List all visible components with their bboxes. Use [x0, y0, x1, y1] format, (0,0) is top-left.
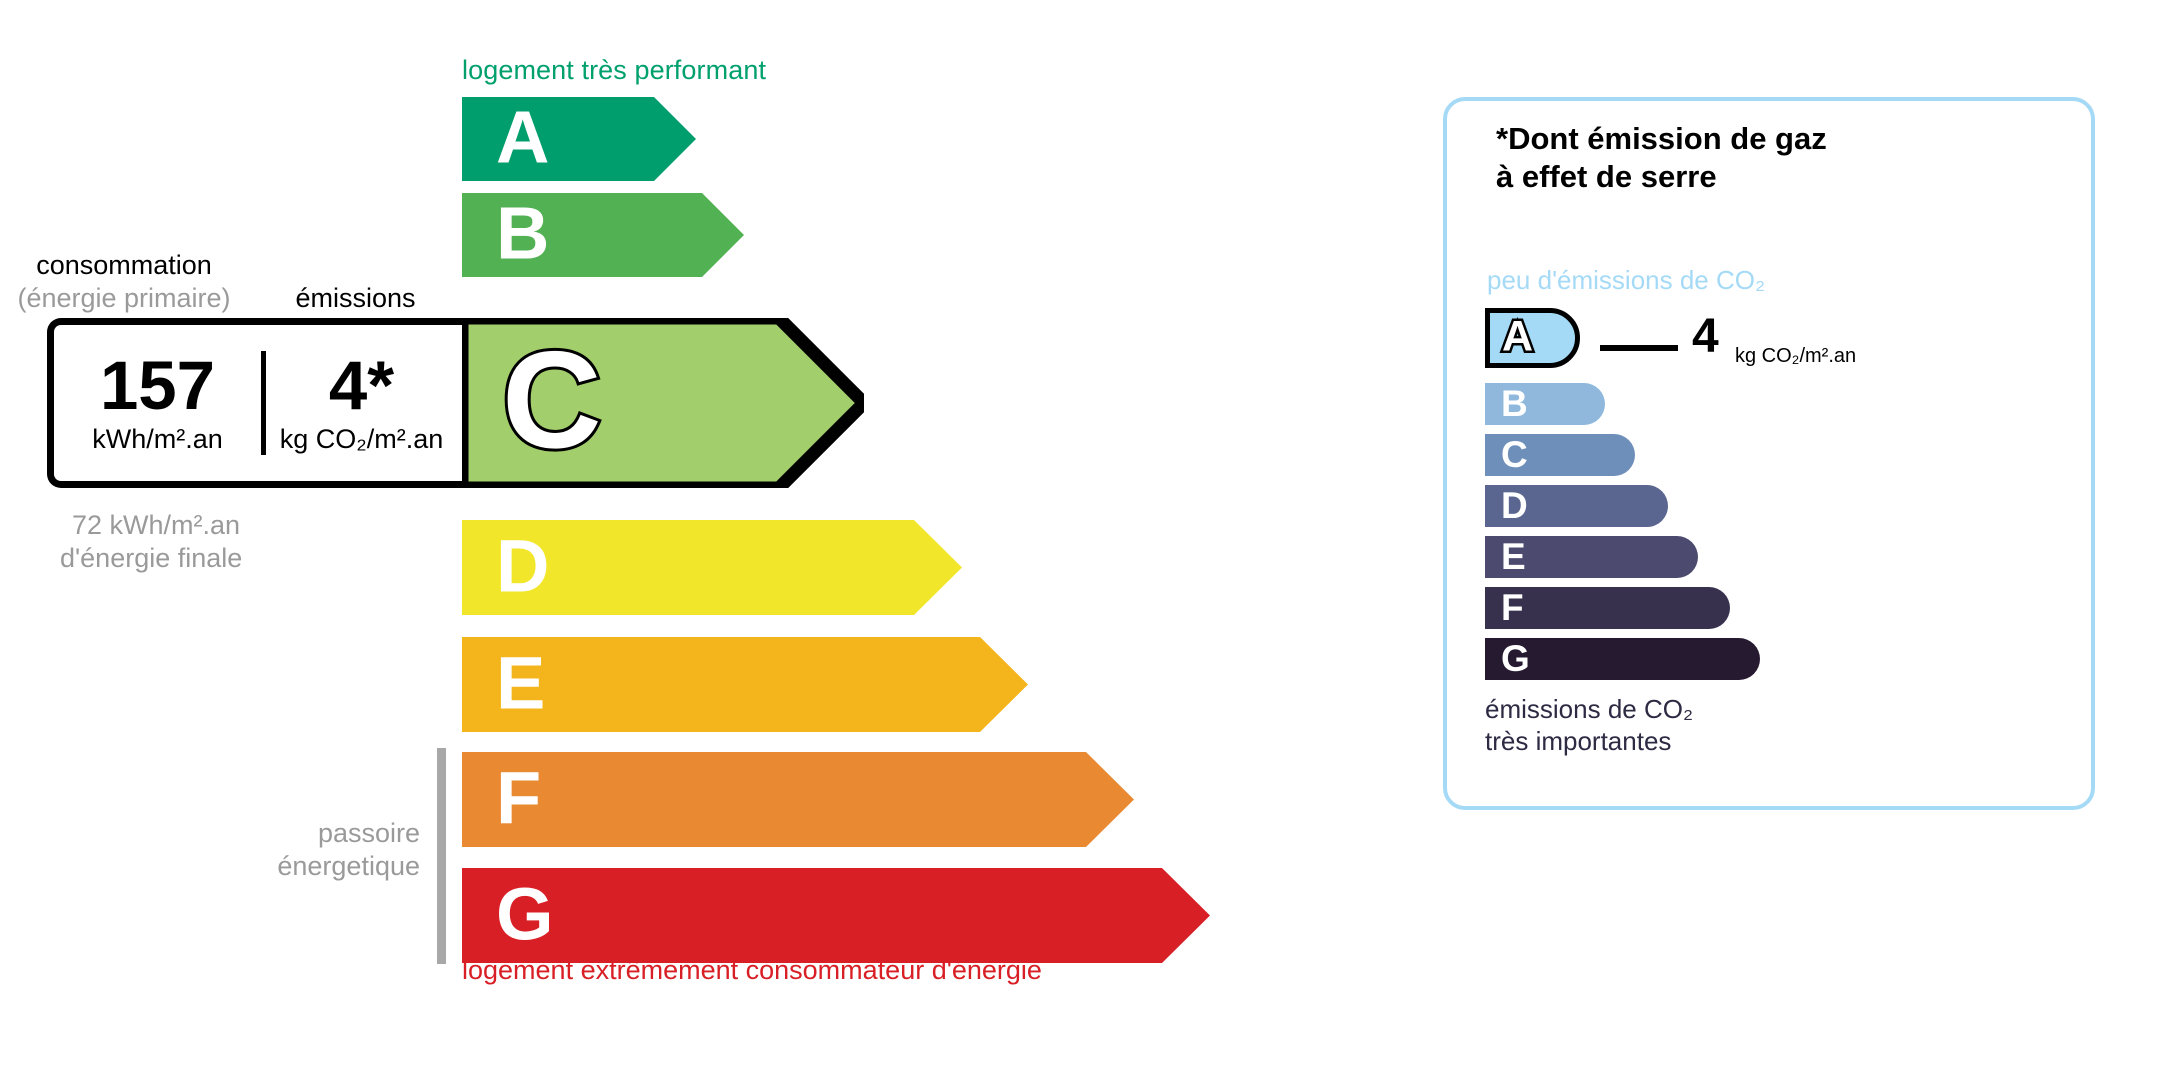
ges-caption-bottom: émissions de CO₂ très importantes — [1485, 694, 1693, 757]
energy-band-a-letter: A — [496, 101, 549, 175]
primary-energy-unit: kWh/m².an — [92, 424, 223, 455]
energy-band-f[interactable]: F — [462, 752, 1134, 847]
consumption-callout-box: 157 kWh/m².an 4* kg CO₂/m².an — [47, 318, 462, 488]
energy-band-d[interactable]: D — [462, 520, 962, 615]
label-emissions: émissions — [253, 283, 458, 314]
ges-bar-d[interactable]: D — [1485, 485, 1668, 527]
ges-bar-c-letter: C — [1501, 436, 1528, 473]
energy-band-e[interactable]: E — [462, 637, 1028, 732]
energy-band-e-letter: E — [496, 646, 545, 720]
energy-band-c-selected[interactable]: C — [462, 318, 864, 488]
ges-leader-line — [1600, 345, 1678, 351]
energy-band-a[interactable]: A — [462, 97, 696, 181]
energy-band-e-arrow — [462, 637, 1028, 732]
label-consommation: consommation — [0, 250, 248, 281]
ges-value: 4 — [1692, 313, 1719, 361]
primary-energy-value: 157 — [100, 351, 215, 420]
energy-band-c-letter: C — [502, 331, 602, 469]
ges-bar-d-letter: D — [1501, 487, 1528, 524]
ges-bar-a-selected[interactable]: A — [1485, 308, 1580, 368]
ges-bar-g[interactable]: G — [1485, 638, 1760, 680]
ges-bar-f-letter: F — [1501, 589, 1524, 626]
ges-panel-title: *Dont émission de gaz à effet de serre — [1496, 120, 1827, 196]
emissions-value: 4* — [329, 351, 394, 420]
energy-caption-bottom: logement extrêmement consommateur d'éner… — [462, 955, 1042, 986]
dpe-energy-label: logement très performant A B C D E — [0, 0, 2169, 1079]
energy-band-f-arrow — [462, 752, 1134, 847]
emissions-unit: kg CO₂/m².an — [280, 424, 444, 455]
energy-band-g-arrow — [462, 868, 1210, 963]
energy-band-f-letter: F — [496, 761, 541, 835]
passoire-label-line1: passoire — [150, 818, 420, 849]
energy-band-b-letter: B — [496, 197, 549, 271]
ges-bar-g-letter: G — [1501, 640, 1530, 677]
ges-bar-c[interactable]: C — [1485, 434, 1635, 476]
primary-energy-cell: 157 kWh/m².an — [54, 325, 261, 481]
label-energie-primaire: (énergie primaire) — [0, 283, 248, 314]
passoire-energetique-bracket — [437, 748, 446, 964]
ges-bar-b-letter: B — [1501, 385, 1528, 422]
energy-band-g-letter: G — [496, 877, 554, 951]
energy-caption-top: logement très performant — [462, 55, 766, 86]
ges-bar-b[interactable]: B — [1485, 383, 1605, 425]
ges-bar-a-letter: A — [1502, 316, 1533, 359]
energy-band-d-letter: D — [496, 529, 549, 603]
energy-band-b[interactable]: B — [462, 193, 744, 277]
final-energy-label: d'énergie finale — [60, 543, 242, 574]
ges-bar-f[interactable]: F — [1485, 587, 1730, 629]
ges-caption-top: peu d'émissions de CO₂ — [1487, 265, 1765, 296]
energy-band-g[interactable]: G — [462, 868, 1210, 963]
ges-value-unit: kg CO₂/m².an — [1735, 345, 1856, 368]
ges-bar-e[interactable]: E — [1485, 536, 1698, 578]
emissions-cell: 4* kg CO₂/m².an — [261, 325, 462, 481]
ges-bar-e-letter: E — [1501, 538, 1526, 575]
passoire-label-line2: énergetique — [150, 851, 420, 882]
final-energy-value: 72 kWh/m².an — [72, 510, 240, 541]
